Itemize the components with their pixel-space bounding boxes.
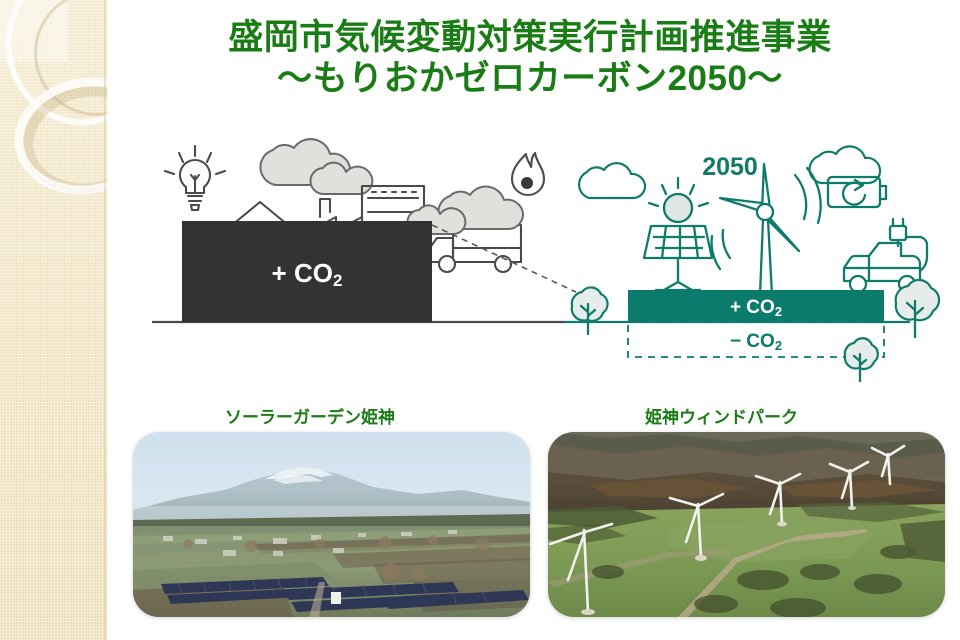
slide-canvas: 盛岡市気候変動対策実行計画推進事業 ～もりおかゼロカーボン2050～ .ln{f… — [0, 0, 960, 640]
title-line-2: ～もりおかゼロカーボン2050～ — [110, 59, 950, 100]
tree-icon — [896, 280, 939, 337]
right-positive-co2-label: + CO2 — [730, 297, 782, 319]
tree-icon — [845, 338, 878, 381]
caption-solar-garden: ソーラーガーデン姫神 — [225, 403, 395, 428]
cloud-icon — [260, 139, 372, 194]
himekami-wind-park-photo — [548, 432, 945, 617]
year-2050-label: 2050 — [702, 153, 758, 181]
co2-infographic: .ln{fill:none;stroke:#4a4a4a;stroke-widt… — [110, 120, 960, 390]
lightbulb-icon — [165, 146, 225, 210]
left-co2-label: + CO2 — [272, 258, 343, 290]
wind-turbine-icon — [712, 164, 821, 297]
caption-wind-park: 姫神ウィンドパーク — [645, 403, 798, 428]
title-line-1: 盛岡市気候変動対策実行計画推進事業 — [110, 18, 950, 59]
decorative-side-band — [0, 0, 107, 640]
flame-icon — [512, 153, 544, 195]
tree-icon — [572, 287, 608, 334]
page-title: 盛岡市気候変動対策実行計画推進事業 ～もりおかゼロカーボン2050～ — [110, 18, 950, 99]
cloud-icon — [579, 163, 645, 198]
right-negative-co2-label: − CO2 — [730, 331, 782, 353]
decor-band-edge — [104, 0, 107, 640]
solar-panel-icon — [644, 178, 712, 290]
solar-garden-himekami-photo — [133, 432, 530, 617]
